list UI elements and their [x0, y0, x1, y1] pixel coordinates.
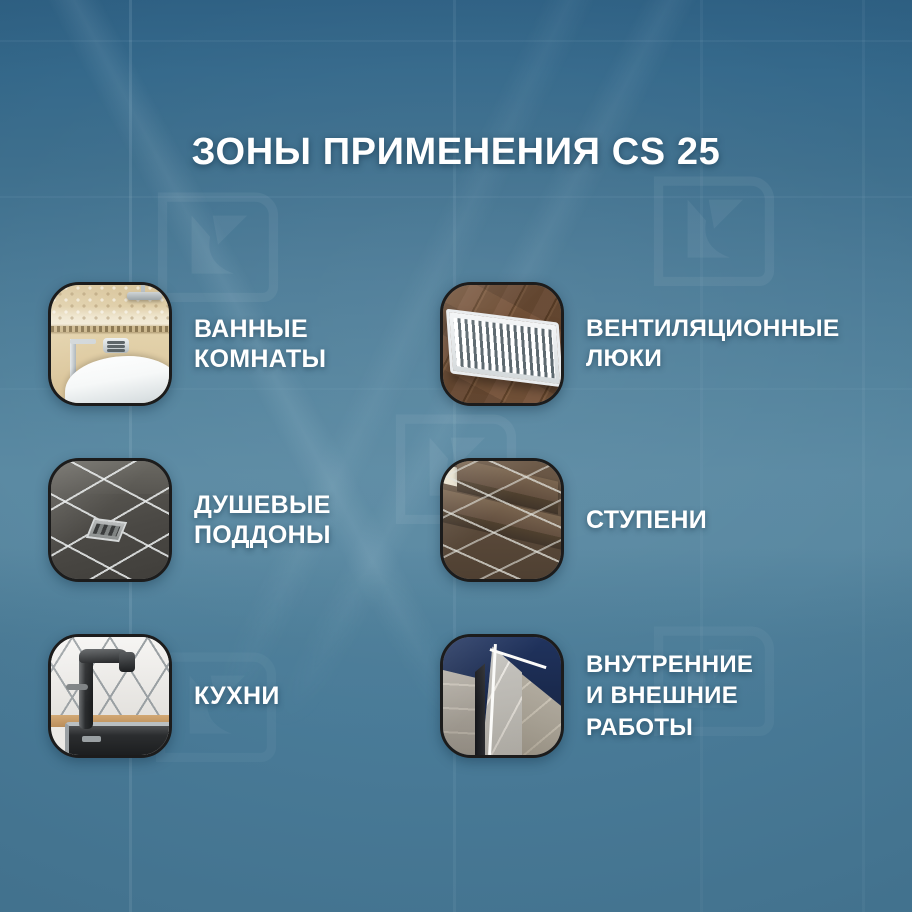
bathroom-photo [48, 282, 172, 406]
list-item[interactable]: ВЕНТИЛЯЦИОННЫЕ ЛЮКИ [440, 282, 840, 406]
application-zones-list: ВАННЫЕ КОМНАТЫ ВЕНТИЛЯЦИОННЫЕ ЛЮКИ [0, 256, 912, 784]
building-facade-photo [440, 634, 564, 758]
list-item-label: КУХНИ [194, 681, 280, 712]
list-item-label: ВЕНТИЛЯЦИОННЫЕ ЛЮКИ [586, 314, 840, 374]
zone-row: КУХНИ ВНУТРЕННИЕ И ВНЕШНИЕ РАБОТЫ [0, 608, 912, 784]
list-item-label: ВАННЫЕ КОМНАТЫ [194, 314, 326, 375]
zone-row: ДУШЕВЫЕ ПОДДОНЫ СТУПЕНИ [0, 432, 912, 608]
shower-tray-photo [48, 458, 172, 582]
list-item-label: ДУШЕВЫЕ ПОДДОНЫ [194, 490, 331, 551]
page-title: ЗОНЫ ПРИМЕНЕНИЯ CS 25 [0, 131, 912, 174]
list-item[interactable]: СТУПЕНИ [440, 458, 707, 582]
ventilation-grille-photo [440, 282, 564, 406]
list-item[interactable]: ВНУТРЕННИЕ И ВНЕШНИЕ РАБОТЫ [440, 634, 753, 758]
list-item-label: ВНУТРЕННИЕ И ВНЕШНИЕ РАБОТЫ [586, 649, 753, 743]
list-item[interactable]: ДУШЕВЫЕ ПОДДОНЫ [48, 458, 331, 582]
list-item[interactable]: КУХНИ [48, 634, 280, 758]
zone-row: ВАННЫЕ КОМНАТЫ ВЕНТИЛЯЦИОННЫЕ ЛЮКИ [0, 256, 912, 432]
list-item[interactable]: ВАННЫЕ КОМНАТЫ [48, 282, 326, 406]
tiled-steps-photo [440, 458, 564, 582]
list-item-label: СТУПЕНИ [586, 505, 707, 536]
kitchen-sink-photo [48, 634, 172, 758]
